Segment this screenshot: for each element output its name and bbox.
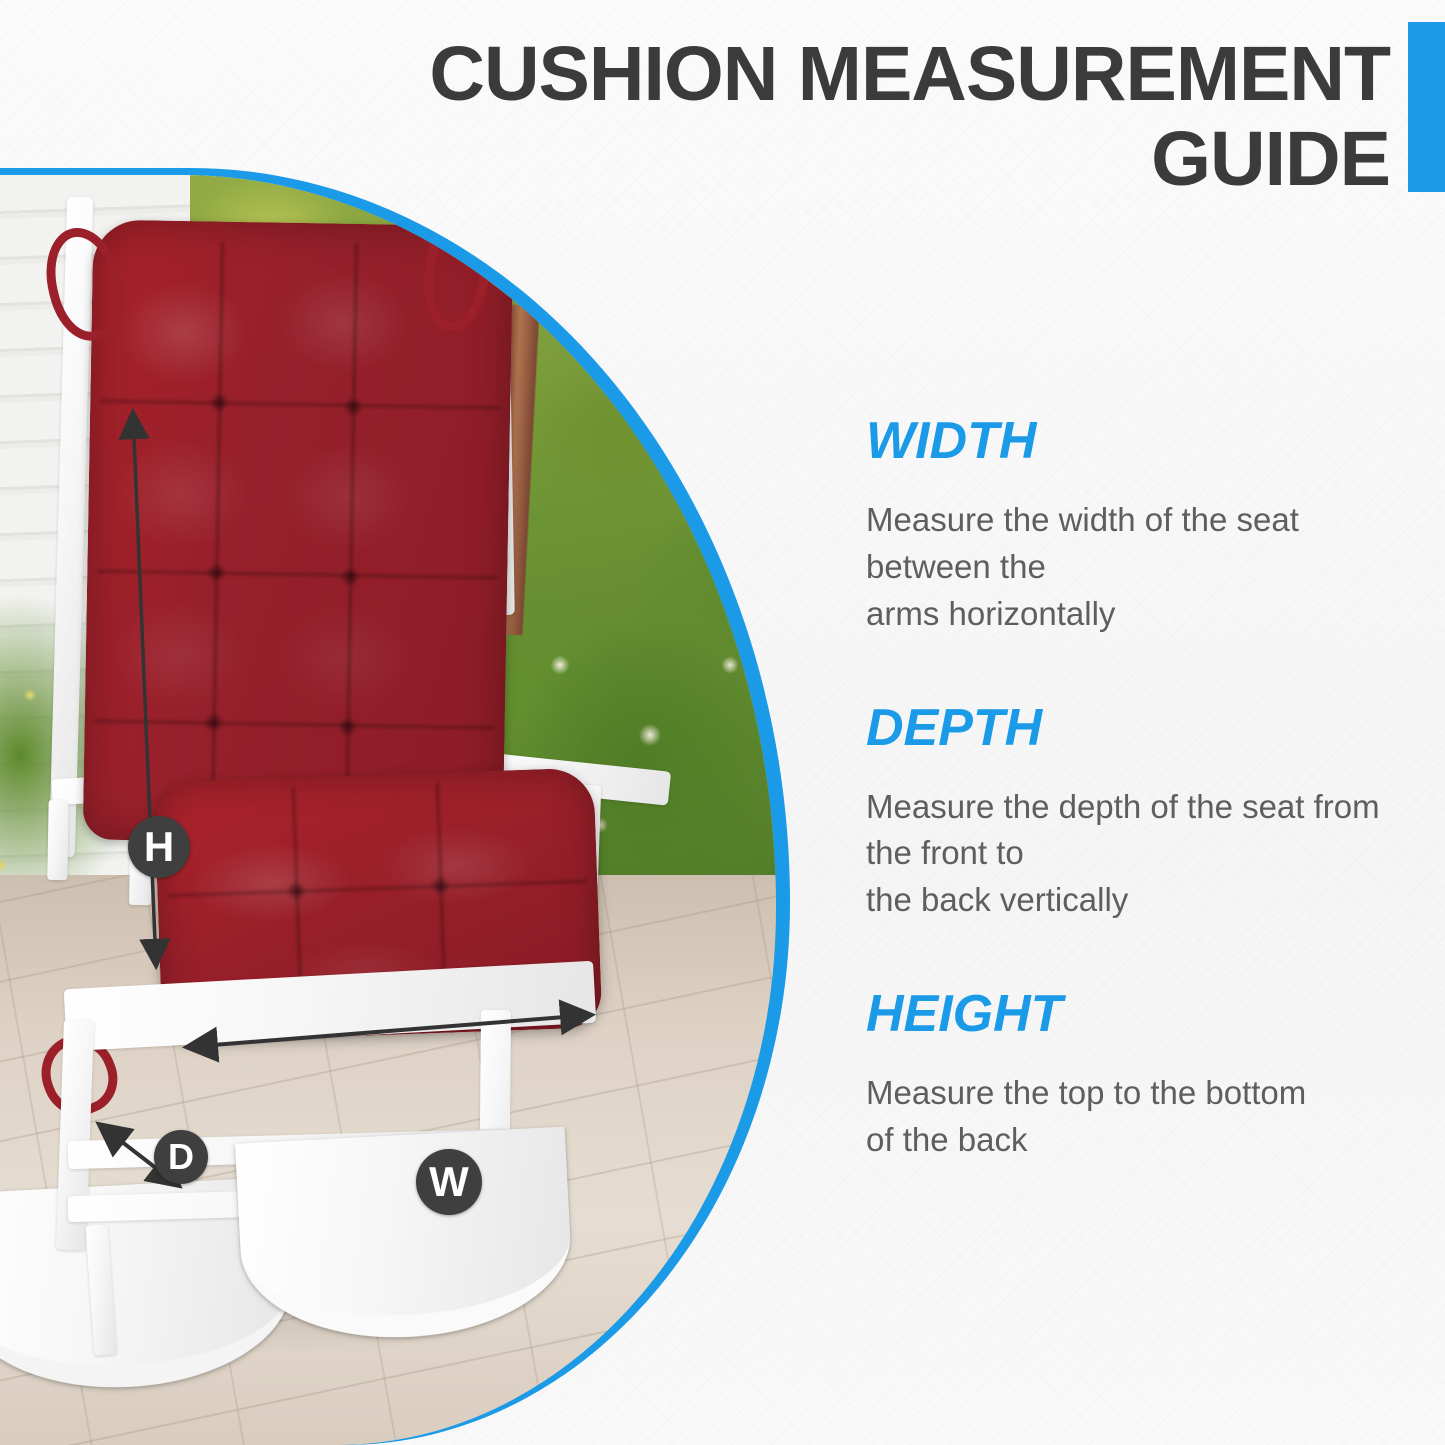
product-photo-panel: H D W [0,168,790,1445]
depth-marker-badge: D [154,1130,208,1184]
info-block-depth: DEPTH Measure the depth of the seat from… [866,702,1406,925]
info-title-depth: DEPTH [866,702,1406,754]
cushion-measurement-guide-infographic: CUSHION MEASUREMENT GUIDE [0,0,1445,1445]
info-block-height: HEIGHT Measure the top to the bottom of … [866,988,1406,1164]
width-marker-badge: W [416,1149,482,1215]
info-block-width: WIDTH Measure the width of the seat betw… [866,415,1406,638]
info-title-height: HEIGHT [866,988,1406,1040]
chair-seat-front-rail [64,961,597,1052]
page-header: CUSHION MEASUREMENT GUIDE [330,0,1390,196]
info-body-width: Measure the width of the seat between th… [866,497,1406,638]
height-marker-badge: H [128,816,190,878]
photo-clip [0,175,776,1445]
chair-rocker-right [235,1127,575,1346]
measurement-instructions: WIDTH Measure the width of the seat betw… [866,415,1406,1164]
page-title-line-2: GUIDE [330,123,1390,196]
chair-arm-rail-left [47,800,68,880]
info-title-width: WIDTH [866,415,1406,467]
info-body-height: Measure the top to the bottom of the bac… [866,1070,1406,1164]
rocking-chair [0,175,776,1445]
header-accent-bar [1408,22,1445,192]
patio-scene-photo [0,175,776,1445]
info-body-depth: Measure the depth of the seat from the f… [866,784,1406,925]
page-title-line-1: CUSHION MEASUREMENT [330,38,1390,111]
